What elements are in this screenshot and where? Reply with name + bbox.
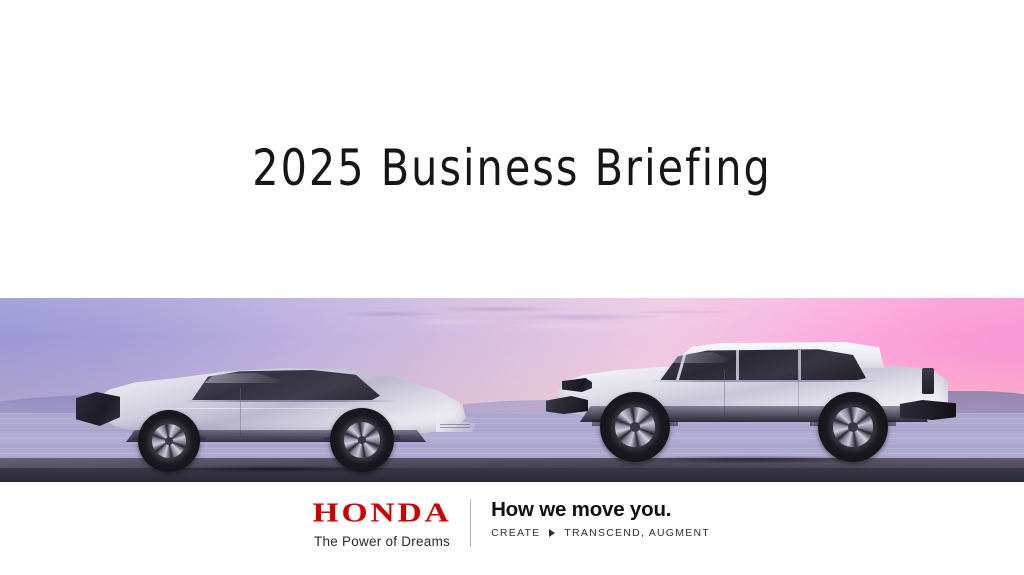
- page-title: 2025 Business Briefing: [41, 139, 983, 197]
- presentation-slide: 2025 Business Briefing: [0, 0, 1024, 575]
- suv-beltline: [650, 380, 882, 382]
- suv-front-bumper: [546, 396, 588, 414]
- saloon-rear-wheel: [138, 410, 200, 472]
- honda-wordmark: HONDA: [313, 499, 452, 527]
- slogan-block: How we move you. CREATE TRANSCEND, AUGME…: [471, 498, 710, 549]
- saloon-beltline: [180, 400, 398, 402]
- suv-front-hub: [630, 422, 640, 432]
- slogan-subline-transcend: TRANSCEND, AUGMENT: [564, 527, 710, 539]
- slogan-headline: How we move you.: [491, 498, 671, 522]
- suv-b-pillar: [736, 350, 739, 380]
- saloon-nose-detail: [440, 424, 470, 429]
- saloon-door-seam: [240, 388, 241, 436]
- suv-rear-hub: [848, 422, 858, 432]
- honda-logo-block: HONDA The Power of Dreams: [314, 498, 470, 549]
- honda-tagline: The Power of Dreams: [314, 534, 450, 549]
- suv-rear-wheel: [818, 392, 888, 462]
- suv-taillight: [922, 368, 934, 394]
- vehicle-suv-concept: [540, 330, 960, 462]
- vehicle-saloon-concept: [72, 356, 472, 462]
- footer-area: HONDA The Power of Dreams How we move yo…: [0, 482, 1024, 575]
- saloon-front-wheel: [330, 408, 394, 472]
- suv-rear-bumper: [900, 400, 956, 420]
- hero-photo: [0, 298, 1024, 482]
- brand-lockup: HONDA The Power of Dreams How we move yo…: [0, 498, 1024, 549]
- suv-front-wheel: [600, 392, 670, 462]
- title-area: 2025 Business Briefing: [0, 0, 1024, 298]
- slogan-subline: CREATE TRANSCEND, AUGMENT: [491, 527, 710, 539]
- right-arrow-icon: [549, 529, 555, 537]
- slogan-subline-create: CREATE: [491, 527, 540, 539]
